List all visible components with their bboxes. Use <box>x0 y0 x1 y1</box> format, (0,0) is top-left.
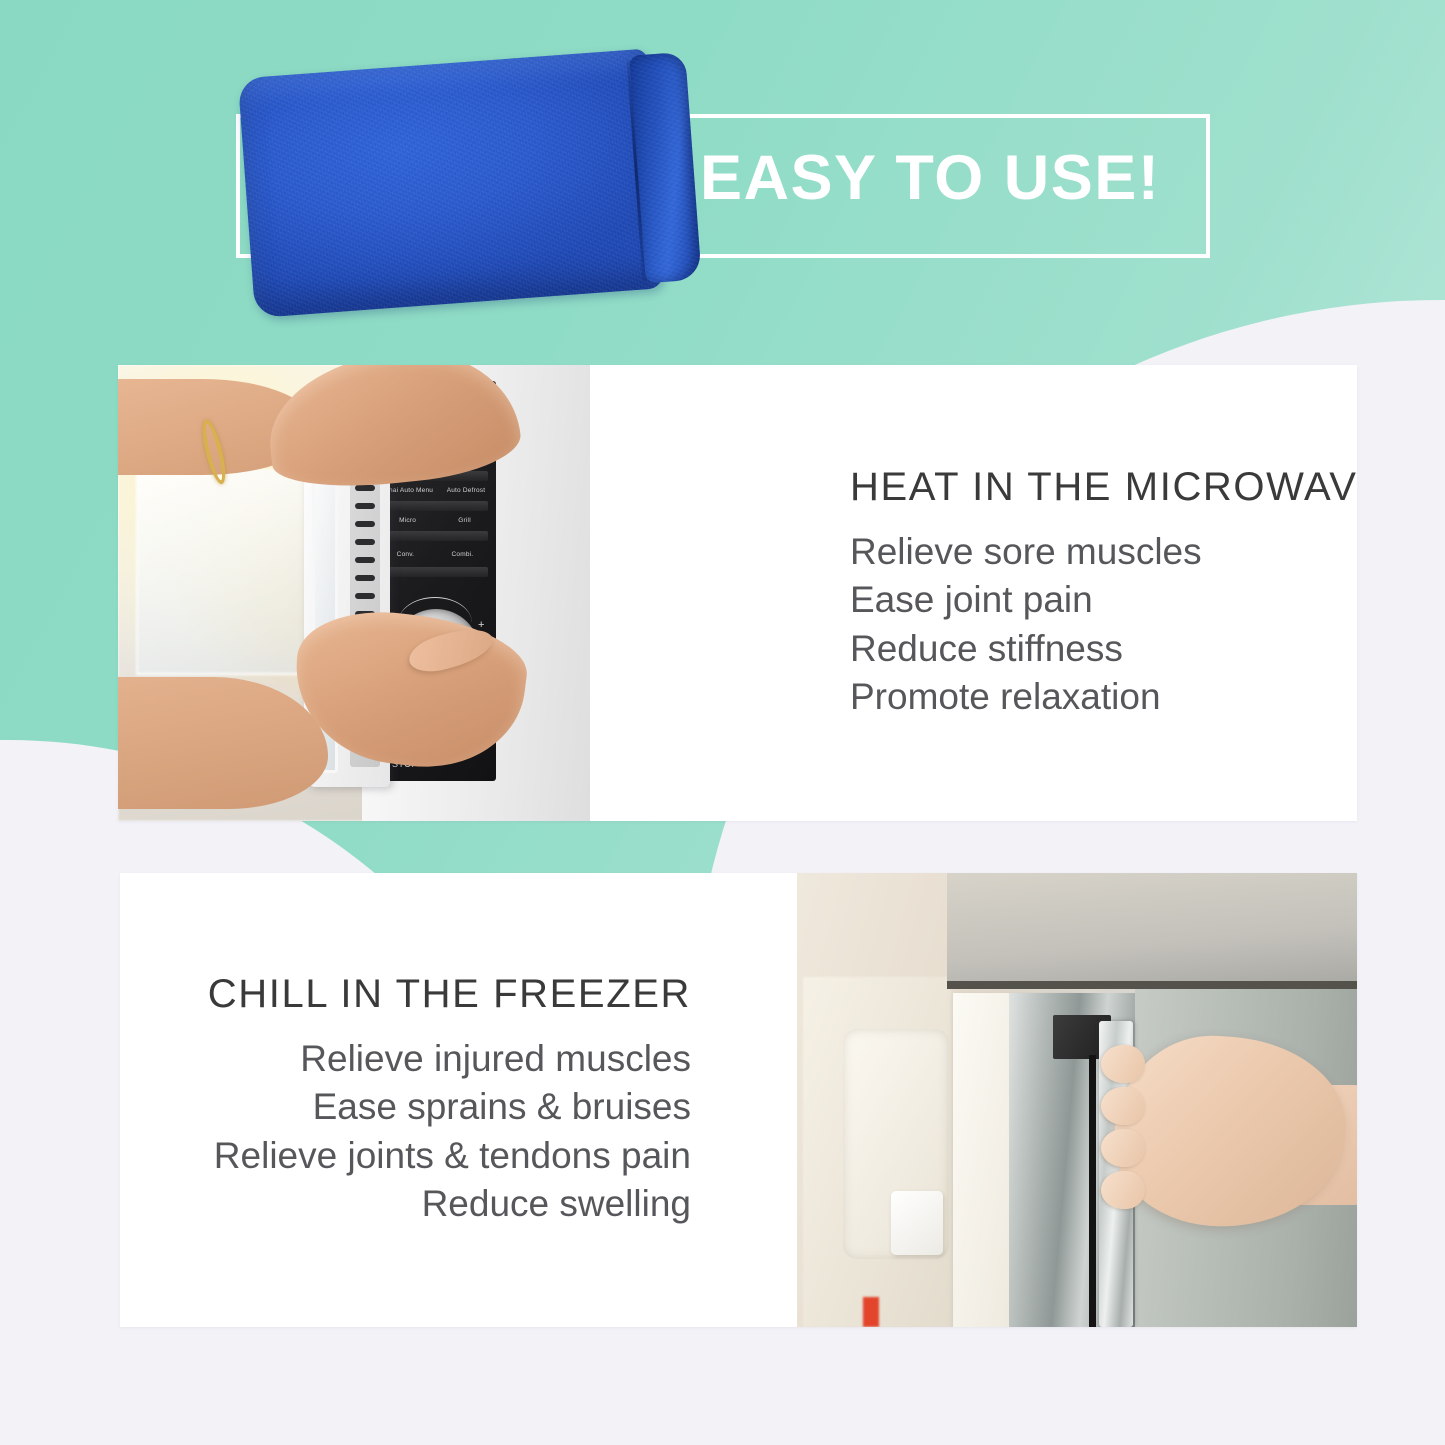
card-chill-in-the-freezer: CHILL IN THE FREEZER Relieve injured mus… <box>120 873 1357 1327</box>
card-heat-in-the-microwave: 8:8 Crispy Reheat Quick Defrost Clock Th… <box>118 365 1357 821</box>
list-item: Relieve sore muscles <box>850 528 1202 576</box>
button-combi[interactable]: Combi. <box>452 551 474 558</box>
product-therapy-pack <box>238 46 699 318</box>
list-item: Relieve injured muscles <box>214 1035 691 1083</box>
door-groove <box>1089 1055 1096 1327</box>
list-item: Ease joint pain <box>850 576 1202 624</box>
list-item: Ease sprains & bruises <box>214 1083 691 1131</box>
hero-title: EASY TO USE! <box>700 145 1200 211</box>
button-grill[interactable]: Grill <box>458 517 471 524</box>
pack-body <box>238 49 664 318</box>
panel-bar-3[interactable] <box>382 531 488 541</box>
panel-row-2: Thai Auto Menu Auto Defrost <box>378 487 492 494</box>
button-micro[interactable]: Micro <box>399 517 416 524</box>
button-auto-defrost[interactable]: Auto Defrost <box>447 487 486 494</box>
fridge-red-item <box>863 1297 879 1327</box>
chill-benefit-list: Relieve injured muscles Ease sprains & b… <box>214 1035 691 1229</box>
fridge-top-unit <box>947 873 1357 985</box>
fridge-container <box>891 1191 943 1255</box>
freezer-fingers <box>1101 1045 1147 1219</box>
infographic-canvas: EASY TO USE! 8:8 Crispy Reheat Quick Def… <box>0 0 1445 1445</box>
list-item: Relieve joints & tendons pain <box>214 1132 691 1180</box>
chill-copy-block: CHILL IN THE FREEZER Relieve injured mus… <box>120 873 797 1327</box>
button-conv[interactable]: Conv. <box>397 551 415 558</box>
heat-copy-block: HEAT IN THE MICROWAVE Relieve sore muscl… <box>590 365 1357 821</box>
microwave-photo: 8:8 Crispy Reheat Quick Defrost Clock Th… <box>118 365 590 821</box>
panel-row-3: Micro Grill <box>378 517 492 524</box>
list-item: Reduce stiffness <box>850 625 1202 673</box>
kitchen-window <box>136 469 312 675</box>
list-item: Promote relaxation <box>850 673 1202 721</box>
dial-plus-label: + <box>478 619 484 631</box>
heat-heading: HEAT IN THE MICROWAVE <box>850 465 1357 510</box>
fridge-door-gap <box>947 981 1357 989</box>
freezer-photo <box>797 873 1357 1327</box>
panel-bar-2[interactable] <box>382 501 488 511</box>
button-thai-auto-menu[interactable]: Thai Auto Menu <box>385 487 433 494</box>
chill-heading: CHILL IN THE FREEZER <box>208 972 691 1017</box>
list-item: Reduce swelling <box>214 1180 691 1228</box>
heat-benefit-list: Relieve sore muscles Ease joint pain Red… <box>850 528 1202 722</box>
panel-row-4: Conv. Combi. <box>378 551 492 558</box>
panel-bar-4[interactable] <box>382 567 488 577</box>
